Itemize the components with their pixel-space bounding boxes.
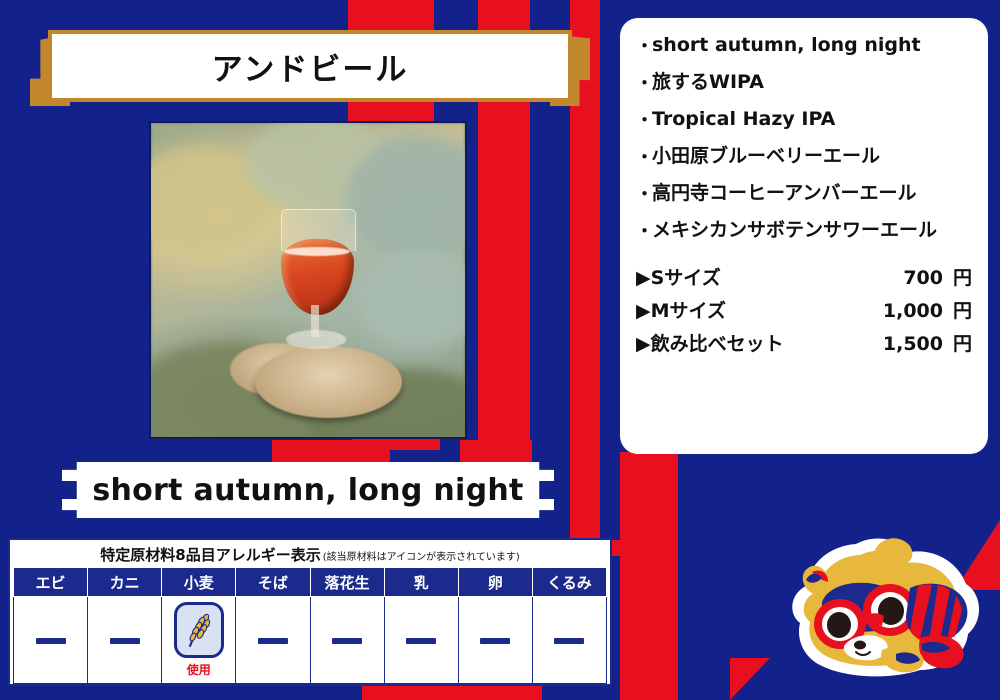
title-plate: アンドビール bbox=[48, 30, 572, 102]
price-row: ▶Mサイズ 1,000 円 bbox=[636, 296, 972, 323]
allergen-table: エビ カニ 小麦 そば 落花生 乳 卵 くるみ bbox=[13, 567, 607, 684]
allergen-header-cell: 小麦 bbox=[162, 568, 236, 597]
menu-item-label: メキシカンサボテンサワーエール bbox=[652, 221, 937, 241]
allergen-cell-nyu bbox=[384, 597, 458, 684]
price-value: 700 bbox=[903, 267, 943, 289]
ribbon-dot-left bbox=[71, 488, 76, 493]
title-banner: アンドビール bbox=[30, 30, 590, 102]
dash-icon bbox=[110, 638, 140, 644]
menu-item-label: Tropical Hazy IPA bbox=[652, 110, 835, 130]
menu-item-label: 小田原ブルーベリーエール bbox=[652, 147, 880, 167]
menu-item-label: short autumn, long night bbox=[652, 36, 921, 56]
price-label: ▶飲み比べセット bbox=[636, 329, 784, 356]
menu-item[interactable]: ・ Tropical Hazy IPA bbox=[636, 110, 972, 130]
menu-item[interactable]: ・ 小田原ブルーベリーエール bbox=[636, 147, 972, 167]
price-row: ▶Sサイズ 700 円 bbox=[636, 263, 972, 290]
price-unit: 円 bbox=[952, 263, 972, 290]
menu-item[interactable]: ・ short autumn, long night bbox=[636, 36, 972, 56]
bullet-icon: ・ bbox=[636, 36, 652, 55]
price-value: 1,500 bbox=[883, 333, 943, 355]
allergen-cell-kurumi bbox=[532, 597, 606, 684]
ribbon-dot-right bbox=[540, 488, 545, 493]
allergen-cell-komugi: 使用 bbox=[162, 597, 236, 684]
bullet-icon: ・ bbox=[636, 221, 652, 240]
beer-name-ribbon: short autumn, long night bbox=[62, 462, 554, 518]
use-label: 使用 bbox=[187, 661, 211, 678]
allergen-header-cell: 乳 bbox=[384, 568, 458, 597]
dash-icon bbox=[332, 638, 362, 644]
menu-item-label: 高円寺コーヒーアンバーエール bbox=[652, 184, 916, 204]
dash-icon bbox=[36, 638, 66, 644]
bullet-icon: ・ bbox=[636, 147, 652, 166]
bg-stripe-5 bbox=[478, 200, 530, 470]
price-label: ▶Sサイズ bbox=[636, 263, 721, 290]
allergen-header-cell: 卵 bbox=[458, 568, 532, 597]
allergen-title-sub: (該当原材料はアイコンが表示されています) bbox=[323, 546, 520, 570]
price-unit: 円 bbox=[952, 329, 972, 356]
menu-card: ・ short autumn, long night ・ 旅するWIPA ・ T… bbox=[620, 18, 988, 454]
photo-glass-foot bbox=[286, 330, 346, 349]
beer-photo bbox=[149, 121, 467, 439]
dash-icon bbox=[480, 638, 510, 644]
allergen-cell-ebi bbox=[14, 597, 88, 684]
wheat-indicator: 使用 bbox=[163, 602, 234, 678]
bg-stripe-11 bbox=[730, 658, 770, 700]
price-value: 1,000 bbox=[883, 300, 943, 322]
allergen-header-cell: くるみ bbox=[532, 568, 606, 597]
allergen-cell-soba bbox=[236, 597, 310, 684]
allergen-cell-kani bbox=[88, 597, 162, 684]
poster-root: アンドビール ・ short autumn, long night ・ 旅するW… bbox=[0, 0, 1000, 700]
wheat-icon bbox=[174, 602, 224, 658]
menu-item[interactable]: ・ 旅するWIPA bbox=[636, 73, 972, 93]
bullet-icon: ・ bbox=[636, 110, 652, 129]
allergen-header-row: エビ カニ 小麦 そば 落花生 乳 卵 くるみ bbox=[14, 568, 607, 597]
bullet-icon: ・ bbox=[636, 184, 652, 203]
allergen-header-cell: そば bbox=[236, 568, 310, 597]
allergen-header-cell: エビ bbox=[14, 568, 88, 597]
allergen-title: 特定原材料8品目アレルギー表示 (該当原材料はアイコンが表示されています) bbox=[13, 543, 607, 567]
allergen-panel: 特定原材料8品目アレルギー表示 (該当原材料はアイコンが表示されています) エビ… bbox=[8, 538, 612, 686]
dash-icon bbox=[406, 638, 436, 644]
menu-item[interactable]: ・ メキシカンサボテンサワーエール bbox=[636, 221, 972, 241]
dash-icon bbox=[554, 638, 584, 644]
allergen-value-row: 使用 bbox=[14, 597, 607, 684]
page-title: アンドビール bbox=[212, 44, 409, 89]
raccoon-dog-mascot-icon bbox=[770, 528, 990, 693]
price-label: ▶Mサイズ bbox=[636, 296, 726, 323]
allergen-cell-rakkasei bbox=[310, 597, 384, 684]
allergen-title-main: 特定原材料8品目アレルギー表示 bbox=[100, 543, 320, 567]
allergen-header-cell: 落花生 bbox=[310, 568, 384, 597]
photo-wood-slice bbox=[255, 346, 403, 418]
price-unit: 円 bbox=[952, 296, 972, 323]
bullet-icon: ・ bbox=[636, 73, 652, 92]
bg-stripe-9 bbox=[620, 452, 678, 700]
dash-icon bbox=[258, 638, 288, 644]
allergen-header-cell: カニ bbox=[88, 568, 162, 597]
menu-item[interactable]: ・ 高円寺コーヒーアンバーエール bbox=[636, 184, 972, 204]
allergen-cell-tamago bbox=[458, 597, 532, 684]
beer-name-label: short autumn, long night bbox=[92, 473, 523, 508]
menu-item-label: 旅するWIPA bbox=[652, 73, 764, 93]
price-row: ▶飲み比べセット 1,500 円 bbox=[636, 329, 972, 356]
